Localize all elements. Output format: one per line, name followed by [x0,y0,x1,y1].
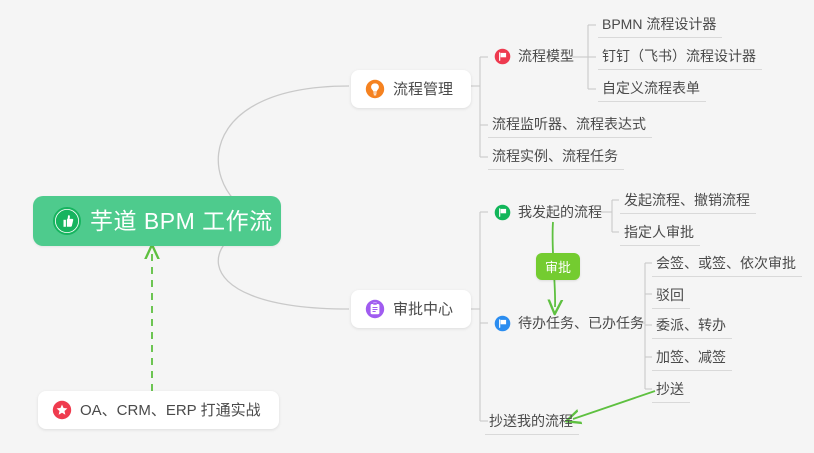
node-label: 我发起的流程 [518,205,602,219]
node-processes-cc-to-me[interactable]: 抄送我的流程 [485,407,579,435]
node-delegate-transfer[interactable]: 委派、转办 [652,311,732,339]
star-icon [52,400,72,420]
node-carbon-copy[interactable]: 抄送 [652,375,690,403]
node-todo-done-tasks[interactable]: 待办任务、已办任务 [490,309,650,337]
floating-node-label: OA、CRM、ERP 打通实战 [80,403,261,418]
node-add-remove-sign[interactable]: 加签、减签 [652,343,732,371]
node-label: BPMN 流程设计器 [602,17,716,31]
clipboard-icon [365,299,385,319]
arrow-carbon-copy-to-cc-processes [573,391,655,419]
node-label: 抄送 [656,382,684,396]
thumbs-up-icon [53,207,81,235]
node-label: 自定义流程表单 [602,81,700,95]
branch-process-management[interactable]: 流程管理 [351,70,471,108]
lightbulb-icon [365,79,385,99]
node-label: 待办任务、已办任务 [518,316,644,330]
branch-approval-center[interactable]: 审批中心 [351,290,471,328]
node-countersign-orsign-sequential[interactable]: 会签、或签、依次审批 [652,249,802,277]
node-label: 委派、转办 [656,318,726,332]
root-node[interactable]: 芋道 BPM 工作流 [33,196,281,246]
node-assignee-approval[interactable]: 指定人审批 [620,218,700,246]
node-label: 流程模型 [518,49,574,63]
node-bpmn-designer[interactable]: BPMN 流程设计器 [598,10,722,38]
node-process-instance-task[interactable]: 流程实例、流程任务 [488,142,624,170]
flag-icon [494,315,511,332]
approval-badge-label: 审批 [545,257,571,276]
node-process-model[interactable]: 流程模型 [490,42,580,70]
node-label: 抄送我的流程 [489,414,573,428]
node-my-initiated-process[interactable]: 我发起的流程 [490,198,608,226]
node-dingtalk-feishu-designer[interactable]: 钉钉（飞书）流程设计器 [598,42,762,70]
node-label: 流程监听器、流程表达式 [492,117,646,131]
node-label: 加签、减签 [656,350,726,364]
node-reject[interactable]: 驳回 [652,281,690,309]
node-start-cancel-process[interactable]: 发起流程、撤销流程 [620,186,756,214]
mindmap-canvas: 芋道 BPM 工作流 流程管理 流程模型 BPMN 流程设计器 钉钉（飞书）流程 [0,0,814,453]
node-label: 发起流程、撤销流程 [624,193,750,207]
branch-label: 审批中心 [393,302,453,317]
flag-icon [494,204,511,221]
node-label: 流程实例、流程任务 [492,149,618,163]
branch-label: 流程管理 [393,82,453,97]
node-process-listener-expression[interactable]: 流程监听器、流程表达式 [488,110,652,138]
node-label: 钉钉（飞书）流程设计器 [602,49,756,63]
flag-icon [494,48,511,65]
node-label: 指定人审批 [624,225,694,239]
node-custom-process-form[interactable]: 自定义流程表单 [598,74,706,102]
root-label: 芋道 BPM 工作流 [90,210,273,233]
approval-badge[interactable]: 审批 [536,253,580,280]
node-label: 驳回 [656,288,684,302]
node-label: 会签、或签、依次审批 [656,256,796,270]
floating-node-oa-crm-erp[interactable]: OA、CRM、ERP 打通实战 [38,391,279,429]
